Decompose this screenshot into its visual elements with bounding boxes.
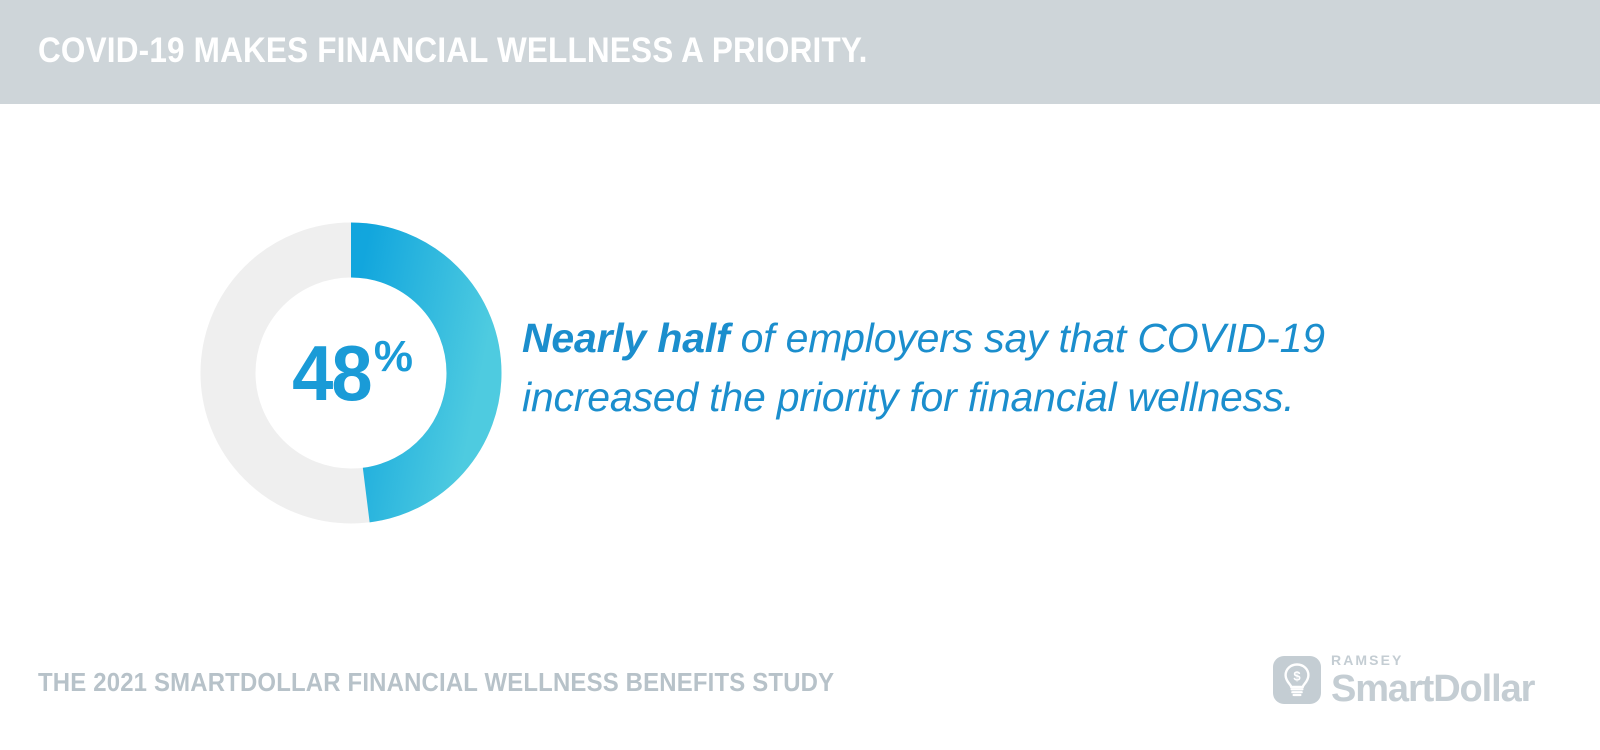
lightbulb-dollar-icon: $ bbox=[1273, 656, 1321, 704]
footer: THE 2021 SMARTDOLLAR FINANCIAL WELLNESS … bbox=[0, 644, 1600, 750]
logo-wordmark: RAMSEY SmartDollar bbox=[1331, 652, 1534, 709]
smartdollar-logo: $ RAMSEY SmartDollar bbox=[1273, 652, 1563, 710]
donut-chart: 48% bbox=[200, 222, 502, 524]
footer-caption: THE 2021 SMARTDOLLAR FINANCIAL WELLNESS … bbox=[38, 667, 834, 698]
statement-lead: Nearly half bbox=[522, 315, 729, 361]
svg-text:$: $ bbox=[1293, 669, 1301, 684]
logo-brand-top: RAMSEY bbox=[1331, 652, 1534, 668]
donut-chart-svg bbox=[200, 222, 502, 524]
logo-brand-main: SmartDollar bbox=[1331, 669, 1534, 709]
page-title: COVID-19 MAKES FINANCIAL WELLNESS A PRIO… bbox=[38, 30, 868, 72]
main-content: 48% Nearly half of employers say that CO… bbox=[0, 104, 1600, 644]
header-band: COVID-19 MAKES FINANCIAL WELLNESS A PRIO… bbox=[0, 0, 1600, 104]
statement-text: Nearly half of employers say that COVID-… bbox=[522, 309, 1392, 427]
